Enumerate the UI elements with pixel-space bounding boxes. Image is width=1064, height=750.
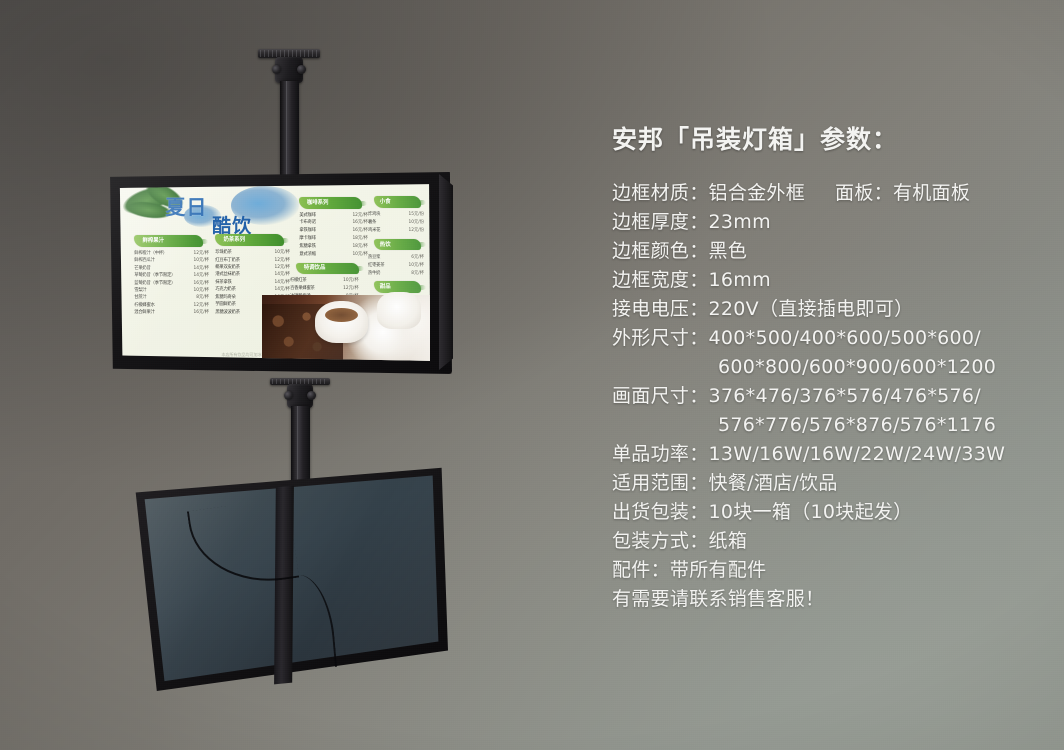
spec-value-panel: 有机面板: [893, 179, 970, 208]
spec-label: 包装方式：: [612, 527, 709, 556]
menu-item-name: 抹茶拿铁: [215, 279, 231, 285]
menu-item-name: 芒果奶昔: [134, 265, 150, 271]
spec-value: 纸箱: [709, 527, 748, 556]
swivel-knuckle-lower: [287, 384, 313, 408]
menu-item-row: 珍珠奶茶 10元/杯: [215, 249, 290, 255]
menu-section-header: 特调饮品: [296, 263, 358, 274]
menu-item-price: 18元/杯: [352, 243, 368, 249]
spec-label: 边框材质：: [612, 179, 709, 208]
menu-item-price: 12元/杯: [275, 264, 291, 270]
menu-item-price: 10元/杯: [352, 251, 368, 257]
spec-value: 16mm: [709, 266, 771, 295]
menu-item-row: 意式浓缩 10元/杯: [299, 251, 368, 257]
spec-label: 适用范围：: [612, 469, 709, 498]
menu-item-name: 卡布奇诺: [299, 219, 315, 225]
menu-item-name: 巧克力奶茶: [215, 286, 235, 292]
menu-item-row: 红豆布丁奶茶 12元/杯: [215, 257, 290, 263]
menu-item-row: 拿铁咖啡 16元/杯: [299, 227, 368, 233]
lightbox-menu-screen: 夏日 酷饮 鲜榨果汁 鲜榨橙汁（中杯） 12元/杯 鲜榨西瓜汁 10元/杯 芒果…: [119, 184, 431, 361]
coffee-cup-photo: [315, 301, 368, 343]
ceiling-plate-ribs: [260, 50, 318, 57]
spec-value-outer-size-cont: 600*800/600*900/600*1200: [612, 353, 1044, 382]
ceiling-mount-upper: [258, 49, 320, 175]
menu-item-price: 16元/杯: [352, 219, 368, 225]
lightbox-upper: 夏日 酷饮 鲜榨果汁 鲜榨橙汁（中杯） 12元/杯 鲜榨西瓜汁 10元/杯 芒果…: [108, 172, 452, 374]
spec-value: 快餐/酒店/饮品: [709, 469, 838, 498]
menu-item-row: 蓝莓奶昔（季节限定） 16元/杯: [134, 280, 209, 286]
spec-row-accessories: 配件： 带所有配件: [612, 556, 1044, 585]
menu-item-name: 柠檬红茶: [290, 277, 306, 283]
menu-item-price: 12元/杯: [343, 285, 359, 291]
spec-row-application: 适用范围： 快餐/酒店/饮品: [612, 469, 1044, 498]
spec-row-package-type: 包装方式： 纸箱: [612, 527, 1044, 556]
menu-item-row: 焦糖拿铁 18元/杯: [299, 243, 368, 249]
menu-item-row: 港式丝袜奶茶 14元/杯: [215, 271, 290, 277]
menu-item-name: 鲜榨西瓜汁: [134, 257, 154, 263]
menu-item-name: 柠檬蜂蜜水: [134, 302, 154, 308]
swivel-knuckle-upper: [275, 57, 303, 83]
spec-value: 23mm: [709, 208, 771, 237]
menu-section-header: 热饮: [374, 239, 421, 250]
menu-item-name: 红枣姜茶: [368, 262, 384, 268]
product-photo-stage: 夏日 酷饮 鲜榨果汁 鲜榨橙汁（中杯） 12元/杯 鲜榨西瓜汁 10元/杯 芒果…: [0, 0, 1064, 750]
knuckle-bolt-right-lower: [307, 391, 316, 400]
pole-seam-upper: [286, 81, 287, 175]
knuckle-bolt-right: [297, 65, 306, 74]
spec-row-shipping-package: 出货包装： 10块一箱（10块起发）: [612, 498, 1044, 527]
menu-watermark: 本店所有饮品均可加冰: [222, 352, 262, 358]
spec-title: 安邦「吊装灯箱」参数：: [612, 124, 1044, 157]
menu-item-price: 8元/杯: [196, 294, 209, 300]
menu-item-price: 14元/杯: [194, 265, 210, 271]
menu-item-price: 6元/杯: [411, 254, 424, 260]
menu-section-title: 热饮: [380, 240, 391, 248]
menu-item-price: 12元/杯: [194, 250, 210, 256]
spec-label: 边框厚度：: [612, 208, 709, 237]
menu-item-row: 鸡米花 12元/份: [368, 227, 424, 233]
menu-item-name: 美式咖啡: [299, 212, 315, 218]
menu-section-title: 奶茶系列: [223, 235, 245, 243]
menu-item-price: 12元/份: [409, 227, 425, 233]
menu-item-name: 焦糖玛奇朵: [215, 294, 235, 300]
menu-item-price: 16元/杯: [194, 309, 210, 315]
spec-footer-cta: 有需要请联系销售客服！: [612, 585, 1044, 614]
spec-row-frame-color: 边框颜色： 黑色: [612, 237, 1044, 266]
spec-label: 单品功率：: [612, 440, 709, 469]
menu-item-price: 15元/份: [409, 211, 425, 217]
menu-item-name: 拿铁咖啡: [299, 227, 315, 233]
menu-item-name: 热牛奶: [368, 270, 380, 276]
menu-item-name: 意式浓缩: [299, 251, 315, 257]
menu-item-name: 鸡米花: [368, 227, 380, 233]
menu-item-row: 摩卡咖啡 18元/杯: [299, 235, 368, 241]
menu-item-name: 热豆浆: [368, 254, 380, 260]
spec-label: 画面尺寸：: [612, 382, 709, 411]
menu-item-price: 10元/杯: [409, 262, 425, 268]
menu-item-row: 椰果双皮奶茶 12元/杯: [215, 264, 290, 270]
menu-item-price: 10元/杯: [194, 257, 210, 263]
menu-item-name: 蓝莓奶昔（季节限定）: [134, 280, 175, 286]
knuckle-bolt-left-lower: [284, 391, 293, 400]
menu-item-name: 草莓奶昔（季节限定）: [134, 272, 175, 278]
menu-item-row: 鲜榨橙汁（中杯） 12元/杯: [134, 250, 209, 256]
spec-value: 400*500/400*600/500*600/: [709, 324, 982, 353]
spec-row-voltage: 接电电压： 220V（直接插电即可）: [612, 295, 1044, 324]
spec-label: 接电电压：: [612, 295, 709, 324]
menu-item-name: 炸鸡块: [368, 211, 380, 217]
menu-item-name: 椰果双皮奶茶: [215, 264, 240, 270]
menu-item-name: 芋圆鲜奶茶: [215, 301, 235, 307]
spec-label: 外形尺寸：: [612, 324, 709, 353]
spec-value: 376*476/376*576/476*576/: [709, 382, 982, 411]
menu-item-name: 甘蔗汁: [134, 294, 146, 300]
menu-section-title: 小食: [380, 197, 391, 205]
spec-row-frame-material: 边框材质： 铝合金外框 面板： 有机面板: [612, 179, 1044, 208]
spec-row-power: 单品功率： 13W/16W/16W/22W/24W/33W: [612, 440, 1044, 469]
menu-item-name: 百香果蜂蜜茶: [290, 285, 315, 291]
spec-value: 13W/16W/16W/22W/24W/33W: [709, 440, 1006, 469]
coffee-cup-photo-2: [377, 292, 421, 329]
menu-item-name: 黑糖波波奶茶: [215, 309, 240, 315]
menu-section-header: 鲜榨果汁: [134, 235, 203, 246]
menu-item-name: 摩卡咖啡: [299, 235, 315, 241]
menu-section-title: 特调饮品: [304, 263, 326, 271]
menu-item-name: 薯条: [368, 219, 376, 225]
menu-item-row: 红枣姜茶 10元/杯: [368, 262, 424, 268]
spec-row-picture-size: 画面尺寸： 376*476/376*576/476*576/: [612, 382, 1044, 411]
menu-item-name: 珍珠奶茶: [215, 249, 231, 255]
lightbox-lower-back: [128, 466, 448, 691]
spec-value: 黑色: [709, 237, 748, 266]
menu-item-row: 雪梨汁 10元/杯: [134, 287, 209, 293]
menu-item-price: 10元/份: [409, 219, 425, 225]
spec-value-picture-size-cont: 576*776/576*876/576*1176: [612, 411, 1044, 440]
menu-section-title: 咖啡系列: [307, 198, 329, 206]
spec-value: 220V（直接插电即可）: [709, 295, 914, 324]
menu-item-row: 混合鲜果汁 16元/杯: [134, 309, 209, 315]
menu-item-row: 柠檬蜂蜜水 12元/杯: [134, 302, 209, 308]
menu-item-price: 10元/杯: [343, 277, 359, 283]
menu-item-name: 焦糖拿铁: [299, 243, 315, 249]
spec-label: 边框宽度：: [612, 266, 709, 295]
menu-item-row: 炸鸡块 15元/份: [368, 211, 424, 217]
spec-row-frame-width: 边框宽度： 16mm: [612, 266, 1044, 295]
menu-headline-1: 夏日: [165, 191, 207, 220]
menu-item-price: 12元/杯: [352, 212, 368, 218]
menu-item-row: 鲜榨西瓜汁 10元/杯: [134, 257, 209, 263]
menu-item-name: 混合鲜果汁: [134, 309, 154, 315]
menu-item-name: 港式丝袜奶茶: [215, 271, 240, 277]
menu-item-name: 鲜榨橙汁（中杯）: [134, 250, 167, 256]
menu-item-row: 热牛奶 8元/杯: [368, 270, 424, 276]
menu-item-row: 热豆浆 6元/杯: [368, 254, 424, 260]
spec-row-outer-size: 外形尺寸： 400*500/400*600/500*600/: [612, 324, 1044, 353]
menu-section-header: 奶茶系列: [215, 234, 284, 245]
spec-label: 边框颜色：: [612, 237, 709, 266]
menu-item-row: 甘蔗汁 8元/杯: [134, 294, 209, 300]
knuckle-bolt-left: [272, 65, 281, 74]
menu-item-row: 柠檬红茶 10元/杯: [290, 277, 359, 283]
menu-artwork: 夏日 酷饮 鲜榨果汁 鲜榨橙汁（中杯） 12元/杯 鲜榨西瓜汁 10元/杯 芒果…: [119, 184, 431, 361]
menu-item-price: 8元/杯: [411, 270, 424, 276]
menu-item-row: 卡布奇诺 16元/杯: [299, 219, 368, 225]
menu-item-price: 14元/杯: [275, 286, 291, 292]
spec-value: 10块一箱（10块起发）: [709, 498, 913, 527]
spec-value: 带所有配件: [670, 556, 767, 585]
menu-item-row: 草莓奶昔（季节限定） 14元/杯: [134, 272, 209, 278]
menu-item-price: 14元/杯: [275, 279, 291, 285]
spec-label-panel: 面板：: [835, 179, 893, 208]
menu-item-price: 18元/杯: [352, 235, 368, 241]
menu-item-name: 红豆布丁奶茶: [215, 257, 240, 263]
menu-item-price: 16元/杯: [352, 227, 368, 233]
menu-item-price: 16元/杯: [194, 280, 210, 286]
menu-section-header: 小食: [374, 196, 421, 207]
menu-item-price: 10元/杯: [275, 249, 291, 255]
spec-value: 铝合金外框: [709, 179, 806, 208]
lightbox-frame-depth: [439, 174, 453, 370]
menu-item-price: 12元/杯: [194, 302, 210, 308]
menu-item-price: 12元/杯: [275, 257, 291, 263]
menu-item-price: 14元/杯: [194, 272, 210, 278]
menu-item-price: 10元/杯: [194, 287, 210, 293]
menu-item-row: 美式咖啡 12元/杯: [299, 212, 368, 218]
spec-panel: 安邦「吊装灯箱」参数： 边框材质： 铝合金外框 面板： 有机面板 边框厚度： 2…: [612, 124, 1044, 614]
drop-pole-upper: [280, 81, 299, 175]
menu-section-title: 鲜榨果汁: [142, 236, 164, 244]
menu-item-row: 薯条 10元/份: [368, 219, 424, 225]
spec-label: 出货包装：: [612, 498, 709, 527]
spec-label: 配件：: [612, 556, 670, 585]
menu-item-row: 抹茶拿铁 14元/杯: [215, 279, 290, 285]
menu-item-name: 雪梨汁: [134, 287, 146, 293]
menu-item-row: 巧克力奶茶 14元/杯: [215, 286, 290, 292]
spec-row-frame-thickness: 边框厚度： 23mm: [612, 208, 1044, 237]
menu-section-title: 甜品: [380, 282, 391, 290]
menu-item-row: 百香果蜂蜜茶 12元/杯: [290, 285, 359, 291]
menu-item-row: 芒果奶昔 14元/杯: [134, 265, 209, 271]
menu-item-price: 14元/杯: [275, 271, 291, 277]
menu-section-header: 咖啡系列: [299, 197, 361, 208]
